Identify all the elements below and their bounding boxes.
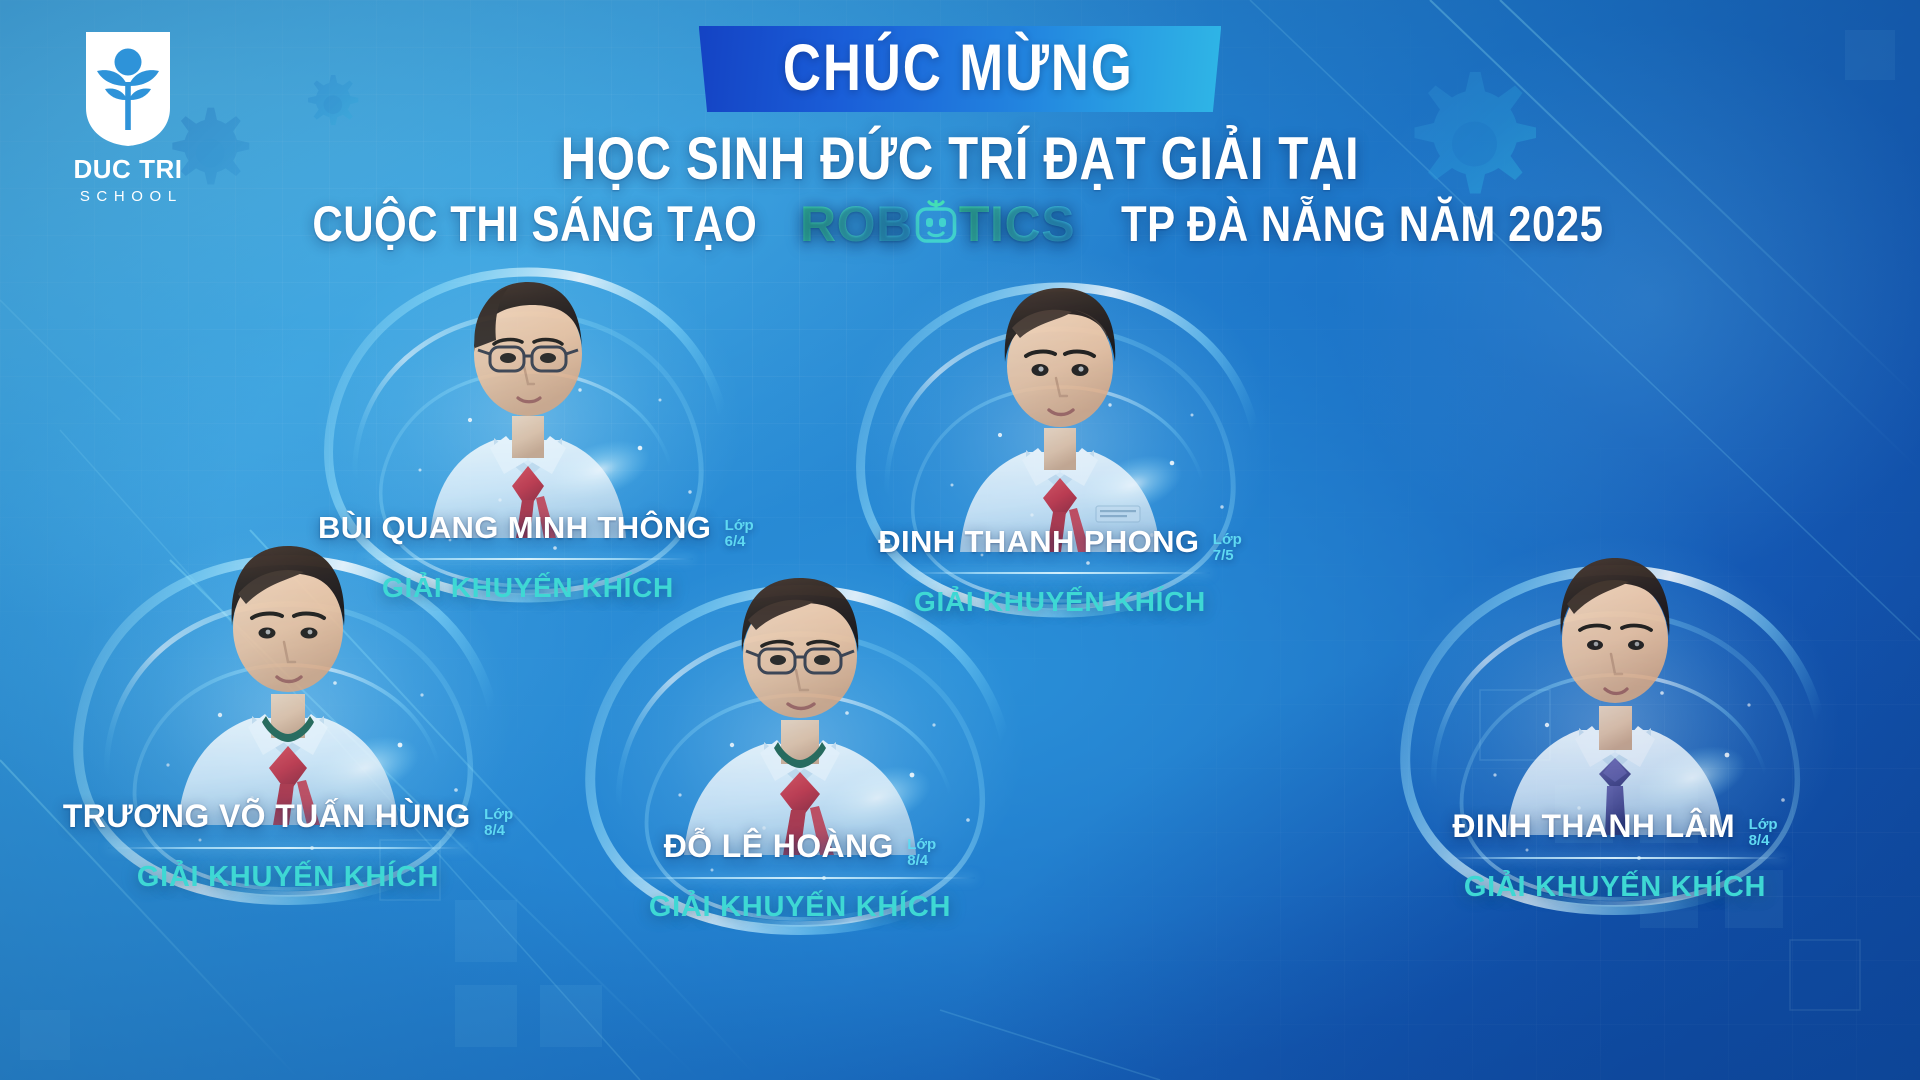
title-line-3-post: TP ĐÀ NẴNG NĂM 2025 (1121, 198, 1604, 250)
title-line-3: CUỘC THI SÁNG TẠO ROB TICS TP ĐÀ NẴNG NĂ… (0, 198, 1920, 250)
title-block: CHÚC MỪNG HỌC SINH ĐỨC TRÍ ĐẠT GIẢI TẠI … (0, 0, 1920, 250)
congratulations-banner: CHÚC MỪNG (699, 26, 1222, 112)
class-value: 7/5 (1213, 548, 1242, 563)
title-line-2: HỌC SINH ĐỨC TRÍ ĐẠT GIẢI TẠI (0, 128, 1920, 190)
student-class-badge: Lớp 8/4 (1749, 817, 1778, 848)
student-card: ĐỖ LÊ HOÀNG Lớp 8/4 GIẢI KHUYẾN KHÍCH (570, 550, 1030, 924)
student-card: ĐINH THANH LÂM Lớp 8/4 GIẢI KHUYẾN KHÍCH (1385, 530, 1845, 904)
student-card: TRƯƠNG VÕ TUẤN HÙNG Lớp 8/4 GIẢI KHUYẾN … (58, 520, 518, 894)
student-nameline-5: ĐINH THANH LÂM Lớp 8/4 (1385, 808, 1845, 848)
student-portrait-glasses-red-scarf-2 (640, 550, 960, 855)
student-award: GIẢI KHUYẾN KHÍCH (1385, 871, 1845, 904)
student-photo-2 (850, 262, 1270, 524)
class-label: Lớp (725, 518, 754, 533)
student-award: GIẢI KHUYẾN KHÍCH (570, 891, 1030, 924)
class-label: Lớp (1213, 532, 1242, 547)
student-class-badge: Lớp 8/4 (907, 837, 936, 868)
student-photo-1 (318, 248, 738, 510)
student-photo-4 (570, 550, 1030, 828)
class-value: 8/4 (907, 853, 936, 868)
student-photo-3 (58, 520, 518, 798)
robotics-word-a: ROB (800, 196, 913, 252)
name-divider (108, 847, 468, 849)
student-class-badge: Lớp 6/4 (725, 518, 754, 549)
student-photo-5 (1385, 530, 1845, 808)
student-class-badge: Lớp 8/4 (484, 807, 513, 838)
student-portrait-purple-tie (1455, 530, 1775, 835)
class-value: 6/4 (725, 534, 754, 549)
robot-head-icon (914, 200, 958, 246)
student-portrait-red-scarf-badge (910, 262, 1210, 552)
student-name: ĐỖ LÊ HOÀNG (664, 828, 894, 865)
robotics-word-b: TICS (959, 196, 1075, 252)
student-class-badge: Lớp 7/5 (1213, 532, 1242, 563)
class-label: Lớp (1749, 817, 1778, 832)
title-line-3-pre: CUỘC THI SÁNG TẠO (313, 198, 758, 250)
class-label: Lớp (907, 837, 936, 852)
class-value: 8/4 (484, 823, 513, 838)
student-portrait-red-scarf (128, 520, 448, 825)
class-label: Lớp (484, 807, 513, 822)
name-divider (625, 877, 975, 879)
congratulations-text: CHÚC MỪNG (783, 34, 1134, 100)
student-portrait-glasses-red-scarf (378, 248, 678, 538)
class-value: 8/4 (1749, 833, 1778, 848)
name-divider (1445, 857, 1785, 859)
student-name: TRƯƠNG VÕ TUẤN HÙNG (63, 798, 471, 835)
student-nameline-4: ĐỖ LÊ HOÀNG Lớp 8/4 (570, 828, 1030, 868)
student-name: ĐINH THANH LÂM (1452, 808, 1735, 845)
student-nameline-3: TRƯƠNG VÕ TUẤN HÙNG Lớp 8/4 (58, 798, 518, 838)
student-award: GIẢI KHUYẾN KHÍCH (58, 861, 518, 894)
poster-canvas: DUC TRI SCHOOL CHÚC MỪNG HỌC SINH ĐỨC TR… (0, 0, 1920, 1080)
